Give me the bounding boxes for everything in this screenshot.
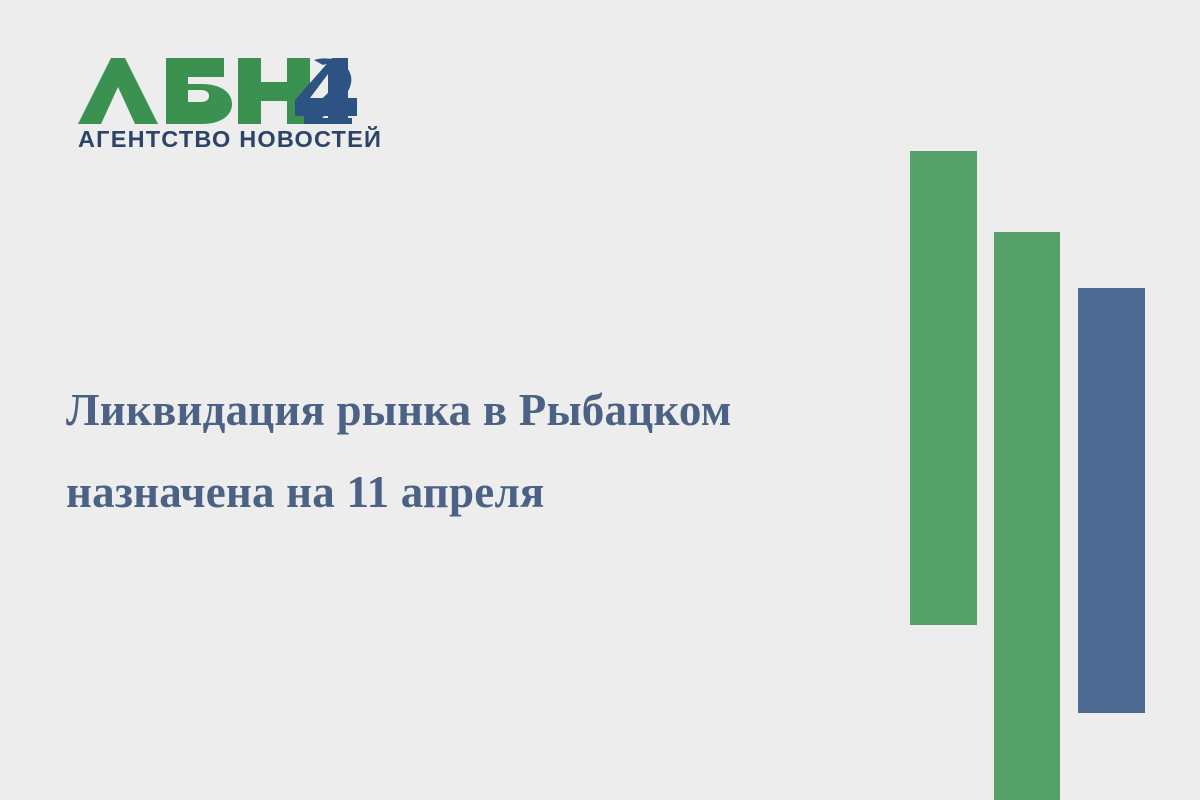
headline-line-1: Ликвидация рынка в Рыбацком [66, 385, 732, 435]
news-card: АГЕНТСТВО НОВОСТЕЙ Ликвидация рынка в Ры… [0, 0, 1200, 800]
chart-bar-3 [1078, 288, 1145, 713]
chart-bar-2 [994, 232, 1060, 800]
page-title: Ликвидация рынка в Рыбацком назначена на… [66, 370, 886, 534]
logo-tagline: АГЕНТСТВО НОВОСТЕЙ [78, 128, 368, 152]
abn24-wordmark-icon [78, 58, 361, 124]
abn24-logo[interactable]: АГЕНТСТВО НОВОСТЕЙ [78, 58, 368, 152]
headline-line-2: назначена на 11 апреля [66, 467, 544, 517]
chart-bar-1 [910, 151, 977, 625]
